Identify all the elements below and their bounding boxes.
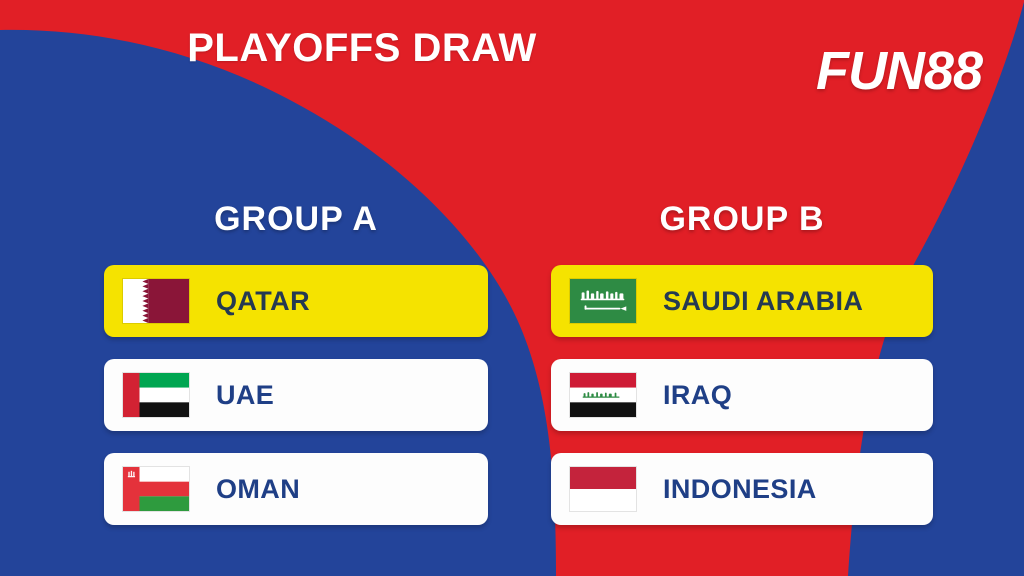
team-row[interactable]: OMAN [104,453,488,525]
brand-logo: FUN88 [816,44,982,98]
team-row[interactable]: INDONESIA [551,453,933,525]
indonesia-flag [569,466,637,512]
iraq-flag [569,372,637,418]
team-row[interactable]: SAUDI ARABIA [551,265,933,337]
oman-flag [122,466,190,512]
team-name: INDONESIA [663,474,817,505]
playoffs-draw-graphic: PLAYOFFS DRAW FUN88 GROUP A QATAR [0,0,1024,576]
team-name: QATAR [216,286,310,317]
saudi-arabia-flag [569,278,637,324]
group-a-team-list: QATAR UAE [104,265,488,547]
team-row[interactable]: UAE [104,359,488,431]
team-name: OMAN [216,474,300,505]
uae-flag [122,372,190,418]
qatar-flag [122,278,190,324]
team-name: SAUDI ARABIA [663,286,863,317]
team-name: IRAQ [663,380,732,411]
team-row[interactable]: IRAQ [551,359,933,431]
team-row[interactable]: QATAR [104,265,488,337]
group-b-team-list: SAUDI ARABIA [551,265,933,547]
group-a-heading: GROUP A [104,200,488,239]
team-name: UAE [216,380,274,411]
group-b-heading: GROUP B [551,200,933,239]
